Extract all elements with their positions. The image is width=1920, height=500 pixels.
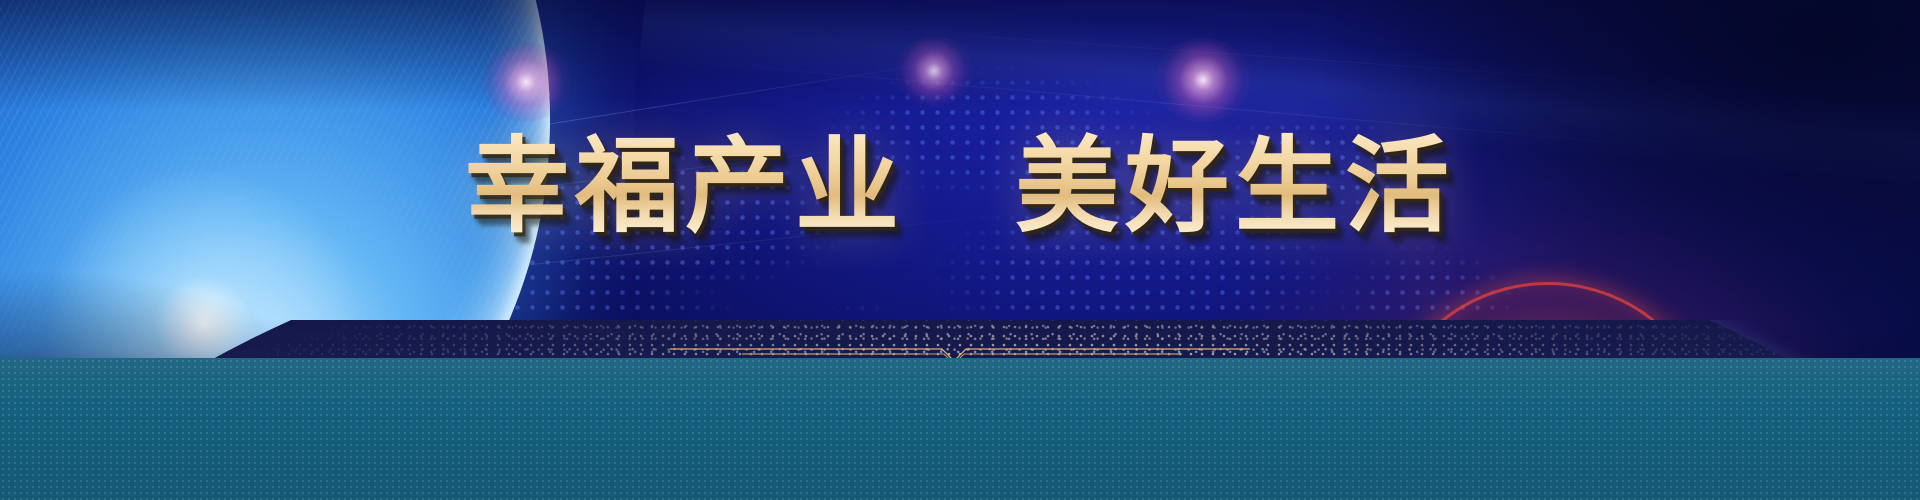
bottom-bar-sheen	[0, 358, 1920, 500]
teal-bottom-bar	[0, 358, 1920, 500]
headline-block: 幸福产业 美好生活	[465, 58, 1455, 314]
promo-banner: 幸福产业 美好生活 打造泰安旅游行业龙头企业	[0, 0, 1920, 500]
banner-headline: 幸福产业 美好生活	[465, 128, 1455, 244]
